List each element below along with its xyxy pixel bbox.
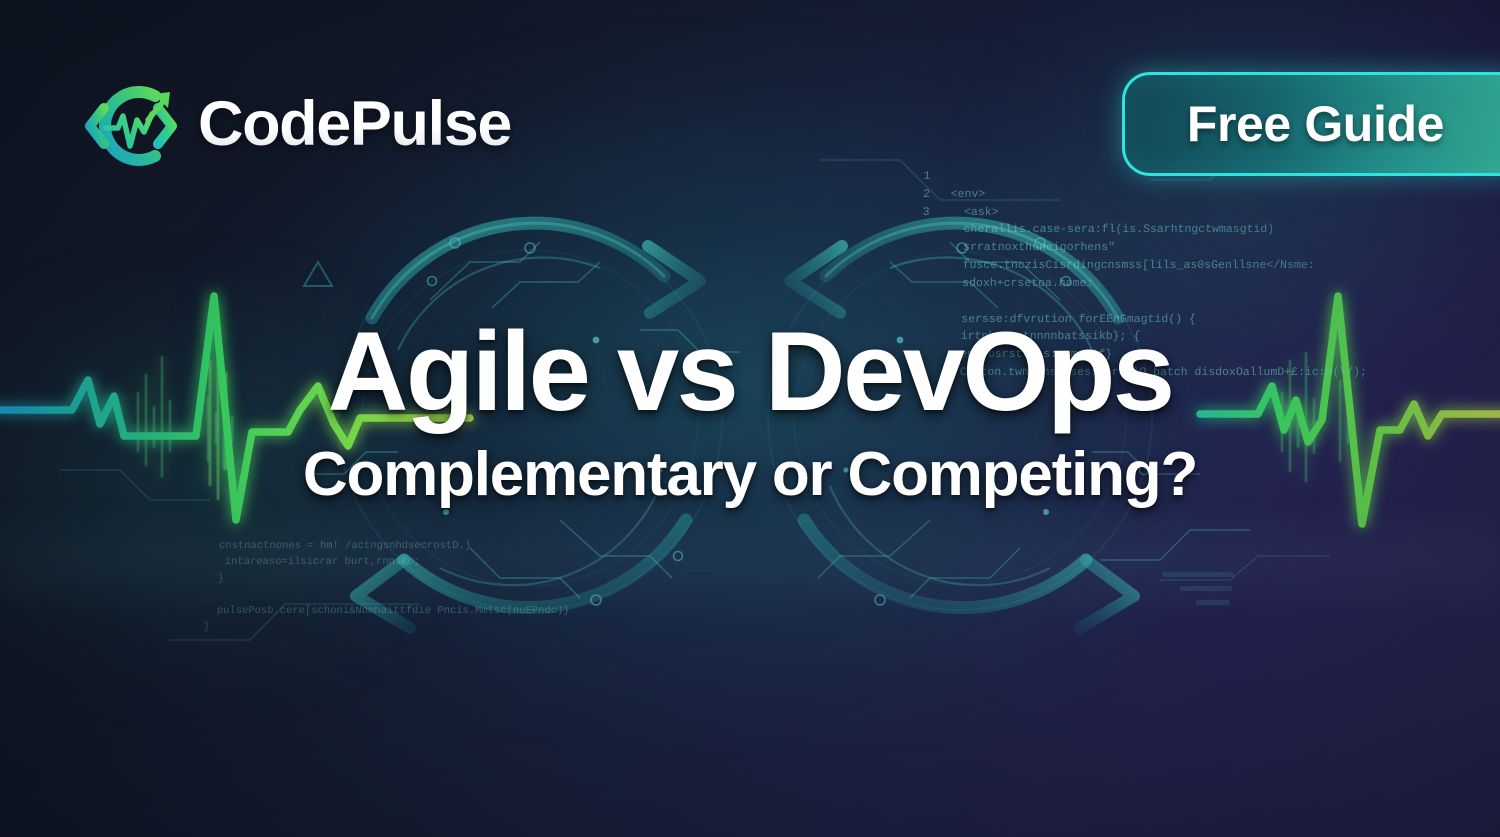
decorative-triangle-icon [304, 262, 332, 286]
brand-name: CodePulse [198, 93, 511, 160]
brand-logo[interactable]: CodePulse [78, 74, 511, 178]
free-guide-badge-label: Free Guide [1187, 99, 1444, 149]
social-card-canvas: 1 2 <env> 3 <ask> cherallis.case-sera:fl… [0, 0, 1500, 837]
pulse-waveform-right [1200, 296, 1500, 524]
background-sheen [0, 502, 1500, 622]
codepulse-pulse-arrow-icon [78, 74, 184, 178]
free-guide-badge[interactable]: Free Guide [1122, 72, 1500, 176]
pulse-waveform-left [0, 296, 470, 520]
